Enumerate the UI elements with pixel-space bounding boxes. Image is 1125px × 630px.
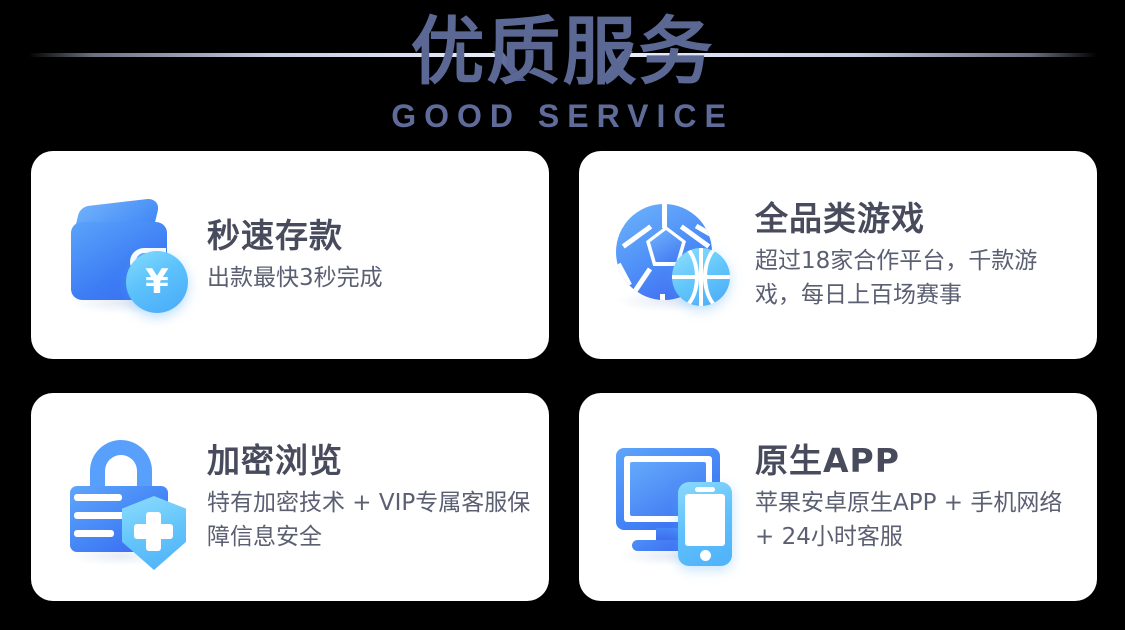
page-subtitle: GOOD SERVICE [0,98,1125,134]
yen-coin-icon: ¥ [126,251,188,313]
card-title: 全品类游戏 [755,198,1079,240]
phone-speaker [695,487,715,492]
promo-banner: 优质服务 GOOD SERVICE ¥ 秒速存款 出款最快3秒 [0,0,1125,630]
soccer-basketball-icon [609,185,741,325]
card-text-block: 加密浏览 特有加密技术 + VIP专属客服保障信息安全 [207,440,531,554]
card-subtitle: 出款最快3秒完成 [207,261,531,295]
page-title: 优质服务 [0,8,1125,96]
wallet-yen-icon: ¥ [61,185,193,325]
basketball [672,248,730,306]
card-subtitle: 超过18家合作平台，千款游戏，每日上百场赛事 [755,244,1079,312]
feature-card-encryption[interactable]: 加密浏览 特有加密技术 + VIP专属客服保障信息安全 [31,393,549,601]
feature-card-deposit[interactable]: ¥ 秒速存款 出款最快3秒完成 [31,151,549,359]
card-text-block: 秒速存款 出款最快3秒完成 [207,215,531,295]
card-subtitle: 特有加密技术 + VIP专属客服保障信息安全 [207,486,531,554]
feature-card-games[interactable]: 全品类游戏 超过18家合作平台，千款游戏，每日上百场赛事 [579,151,1097,359]
feature-card-grid: ¥ 秒速存款 出款最快3秒完成 [31,151,1097,601]
banner-header: 优质服务 GOOD SERVICE [0,0,1125,145]
feature-card-native-app[interactable]: 原生APP 苹果安卓原生APP + 手机网络 + 24小时客服 [579,393,1097,601]
phone-screen [685,494,725,546]
card-subtitle: 苹果安卓原生APP + 手机网络 + 24小时客服 [755,486,1079,554]
lock-shield-icon [61,427,193,567]
monitor-phone-icon [609,427,741,567]
plus-icon-bar [134,524,173,539]
card-text-block: 原生APP 苹果安卓原生APP + 手机网络 + 24小时客服 [755,440,1079,554]
card-title: 加密浏览 [207,440,531,482]
card-text-block: 全品类游戏 超过18家合作平台，千款游戏，每日上百场赛事 [755,198,1079,312]
yen-symbol: ¥ [145,265,169,299]
card-title: 原生APP [755,440,1079,482]
card-title: 秒速存款 [207,215,531,257]
phone-home-button [700,550,711,561]
